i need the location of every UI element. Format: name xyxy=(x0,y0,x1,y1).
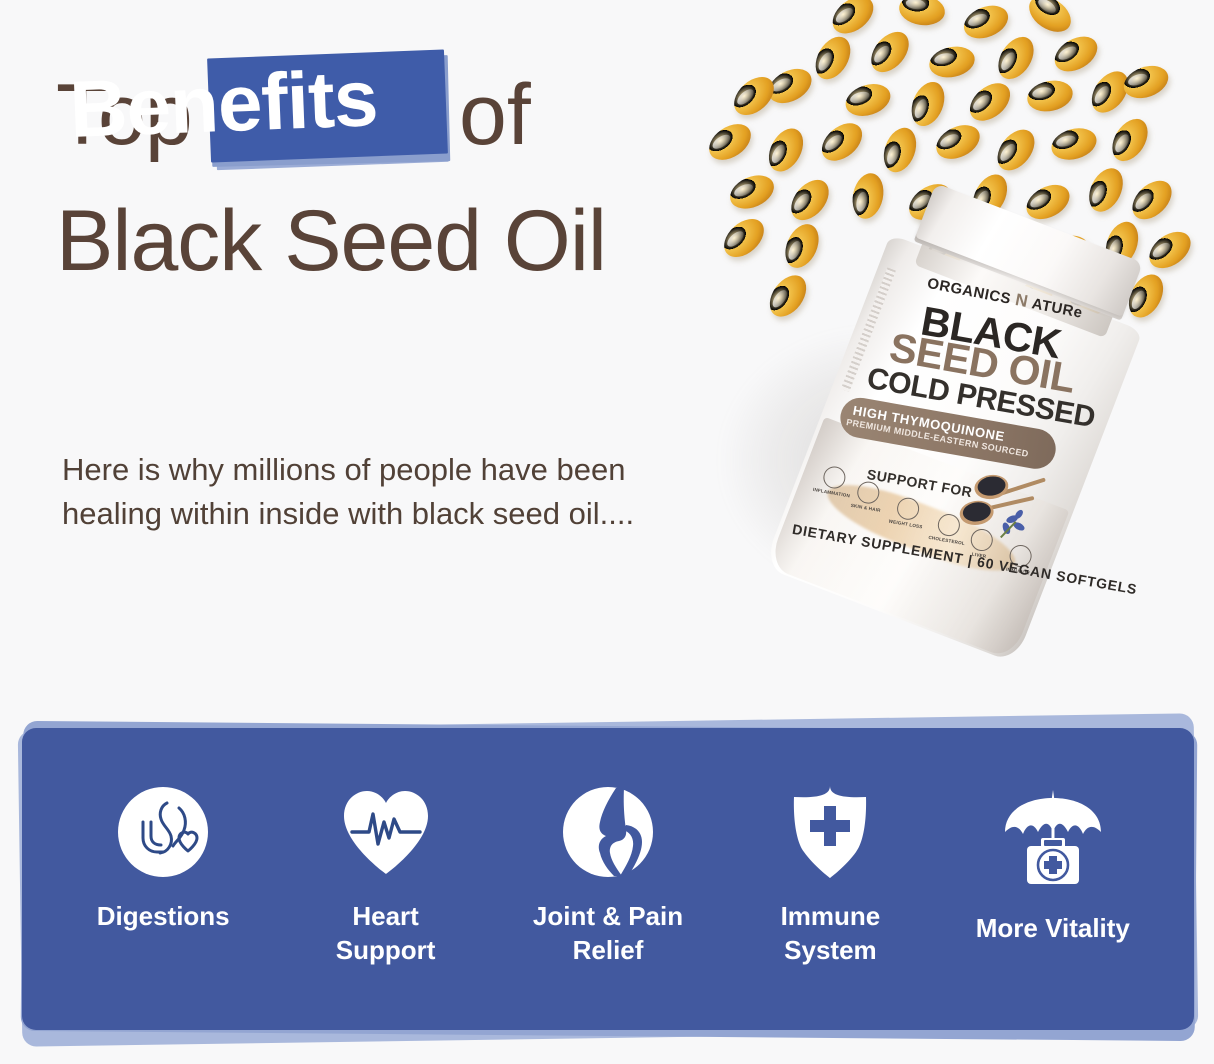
benefit-label: Heart Support xyxy=(336,900,436,968)
brand-leaf-mark: N xyxy=(1014,290,1030,311)
benefit-item-digestions[interactable]: Digestions xyxy=(52,728,274,934)
benefit-label: More Vitality xyxy=(976,912,1130,946)
headline-line-1: Top Benefits of xyxy=(56,52,756,170)
headline-word-benefits: Benefits xyxy=(68,52,379,156)
subtitle-text: Here is why millions of people have been… xyxy=(62,448,662,536)
benefits-list: Digestions Heart Support xyxy=(22,728,1194,1030)
cloud-icon xyxy=(937,512,962,537)
benefit-label: Digestions xyxy=(97,900,230,934)
infographic-page: Top Benefits of Black Seed Oil Here is w… xyxy=(0,0,1214,1064)
support-icon-inflammation: INFLAMMATION xyxy=(813,463,855,498)
heart-ecg-icon xyxy=(338,786,434,878)
digestion-stomach-icon xyxy=(117,786,209,878)
support-icon-label: INFLAMMATION xyxy=(813,487,851,498)
support-icon-cholesterol: CHOLESTEROL xyxy=(928,511,969,546)
support-icon-label: CHOLESTEROL xyxy=(928,535,965,546)
liver-icon xyxy=(969,527,994,552)
headline-block: Top Benefits of Black Seed Oil xyxy=(56,52,756,291)
benefits-panel: Digestions Heart Support xyxy=(0,700,1214,1064)
headline-word-of: of xyxy=(459,66,531,165)
benefit-item-joint-pain-relief[interactable]: Joint & Pain Relief xyxy=(497,728,719,968)
benefit-item-more-vitality[interactable]: More Vitality xyxy=(942,728,1164,946)
shield-cross-icon xyxy=(786,786,874,878)
benefit-item-heart-support[interactable]: Heart Support xyxy=(274,728,496,968)
benefit-label: Joint & Pain Relief xyxy=(533,900,683,968)
headline-line-2: Black Seed Oil xyxy=(56,192,756,291)
support-icon-weight-loss: WEIGHT LOSS xyxy=(888,495,927,530)
product-image: ORGANICS N ATURe BLACK SEED OIL COLD PRE… xyxy=(690,0,1214,690)
skin-icon xyxy=(856,480,881,505)
support-icon-label: SKIN & HAIR xyxy=(850,503,881,513)
support-icon-label: WEIGHT LOSS xyxy=(888,519,923,530)
umbrella-firstaid-icon xyxy=(997,790,1109,882)
benefit-label: Immune System xyxy=(781,900,881,968)
knee-joint-icon xyxy=(560,786,656,878)
scale-icon xyxy=(896,496,921,521)
flame-icon xyxy=(821,465,846,490)
benefit-item-immune-system[interactable]: Immune System xyxy=(719,728,941,968)
support-icon-skin-hair: SKIN & HAIR xyxy=(850,479,885,513)
